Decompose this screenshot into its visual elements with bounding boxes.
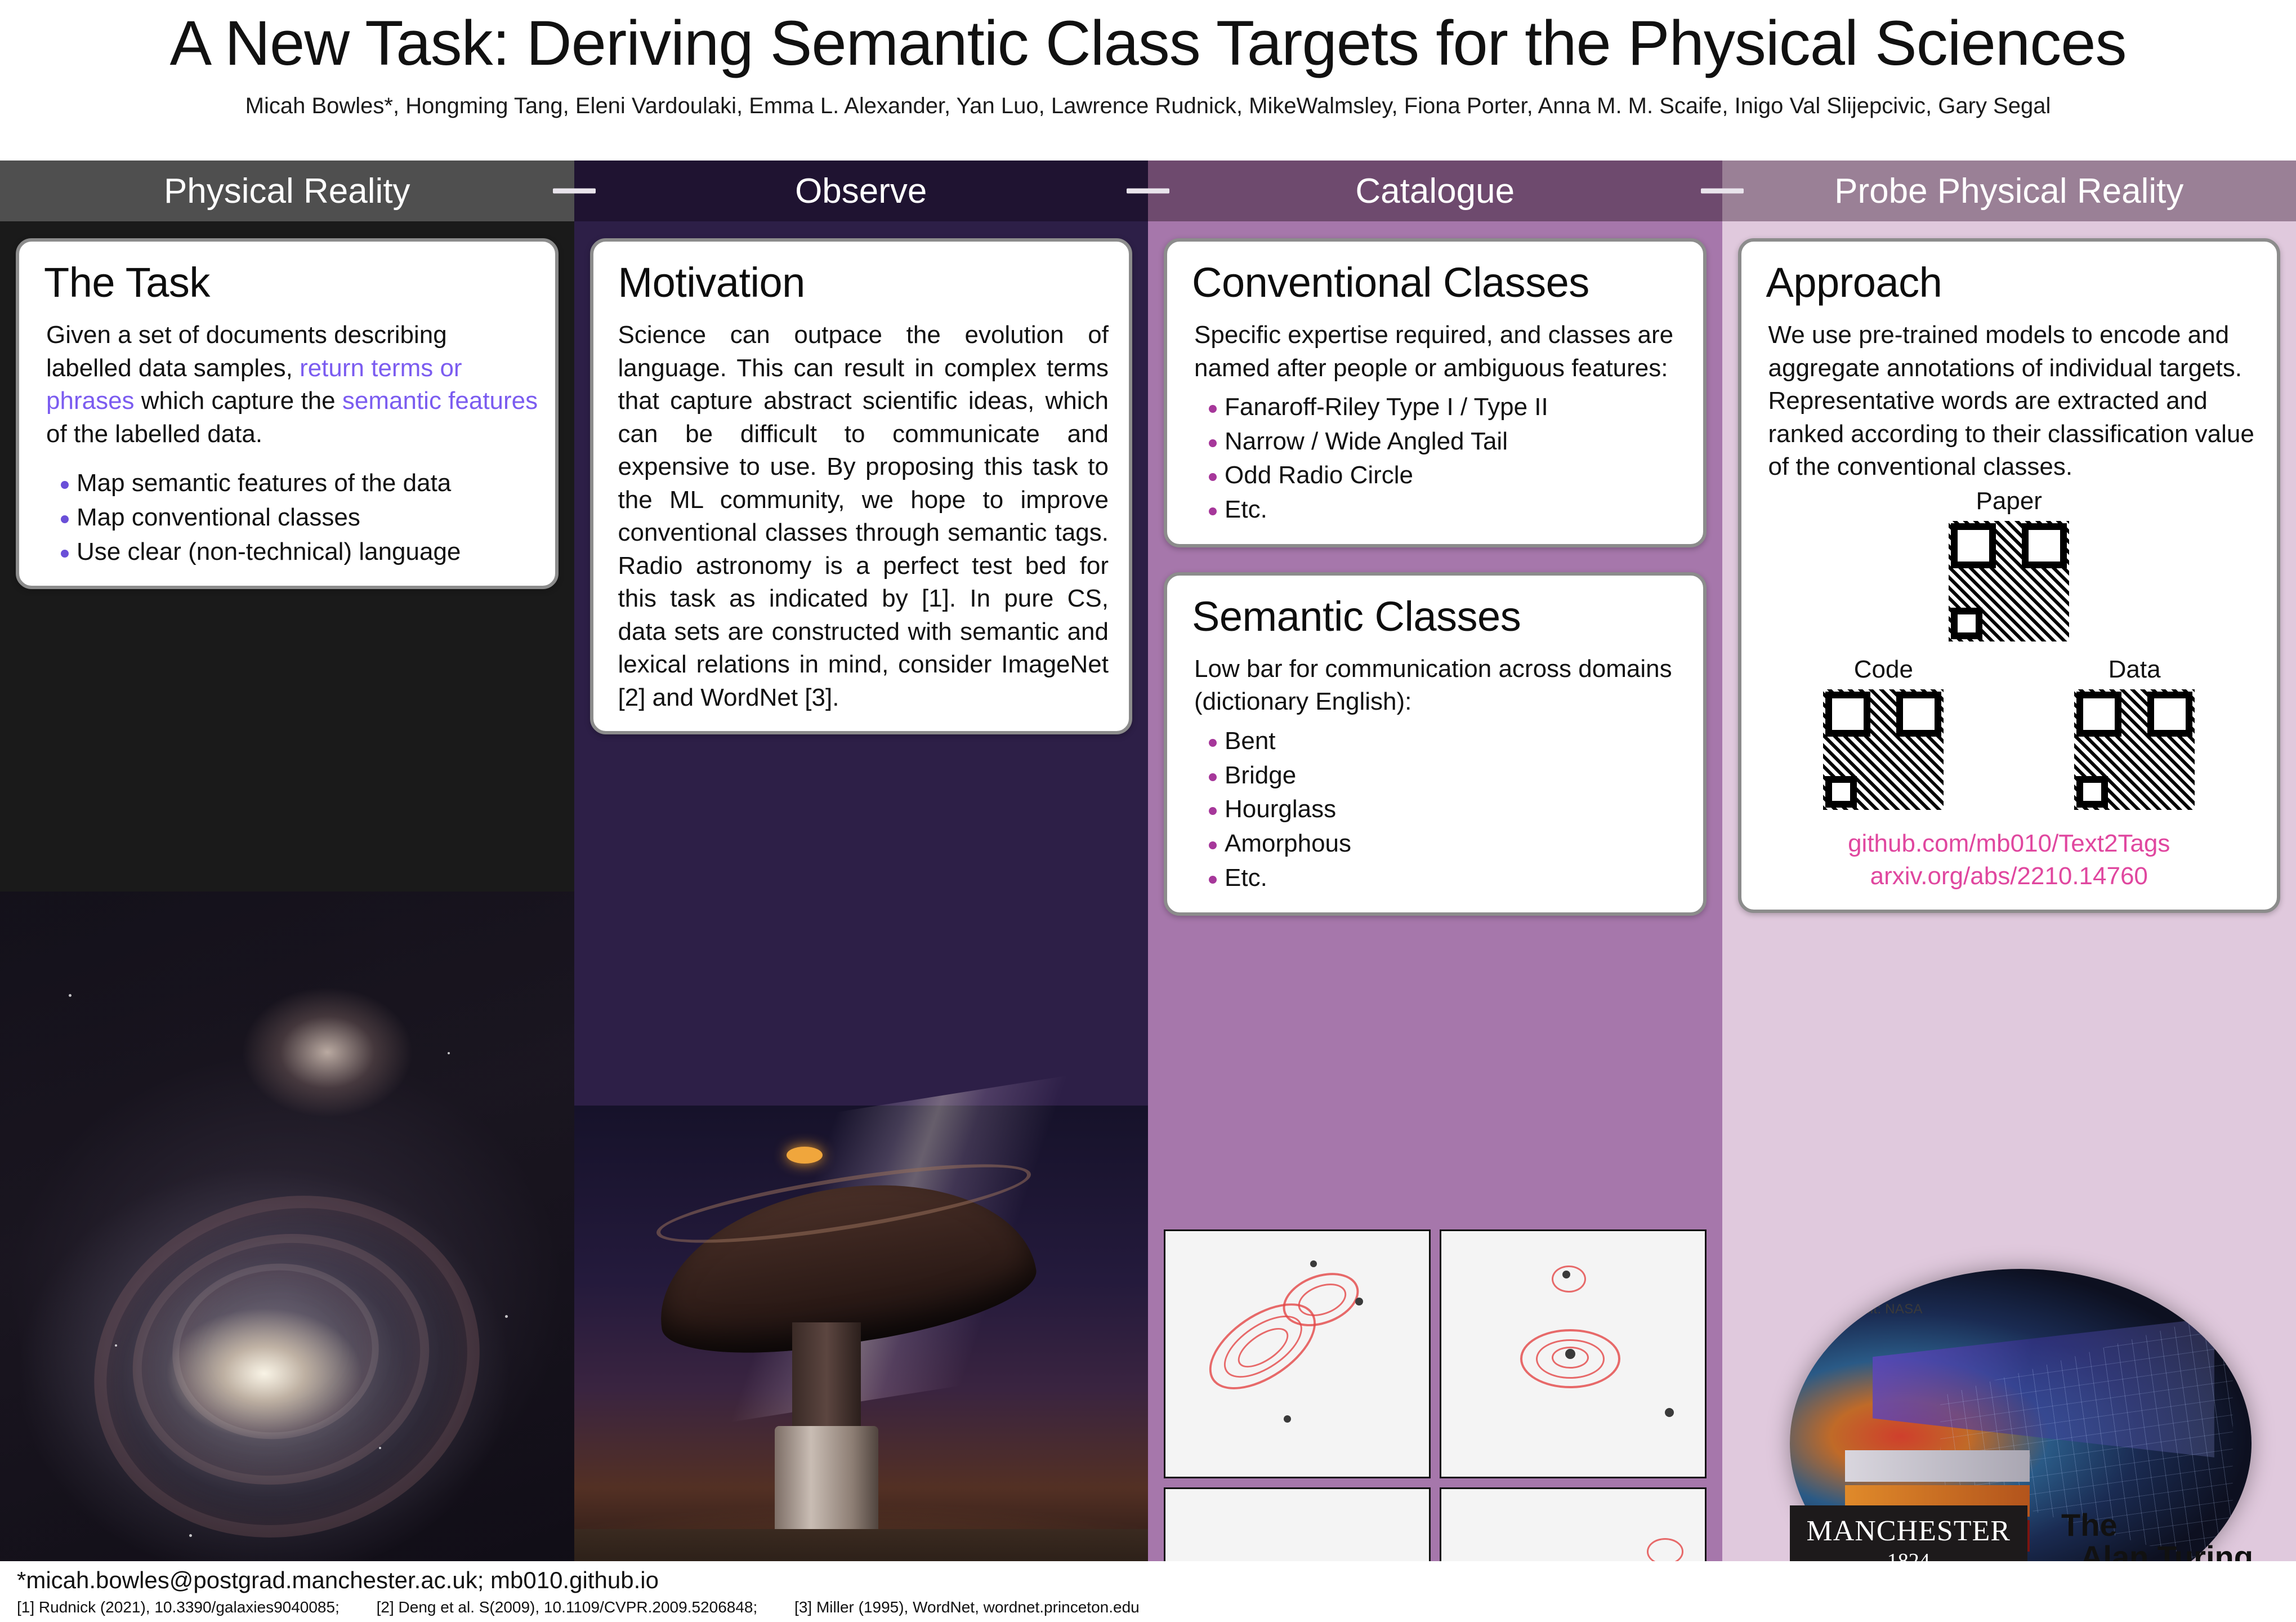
link-github-repo[interactable]: github.com/mb010/Text2Tags [1758,827,2261,860]
banner-cell-physical-reality: Physical Reality [0,161,574,221]
column-probe-physical-reality: Approach We use pre-trained models to en… [1722,221,2296,1622]
qr-row: Code Data [1758,656,2261,813]
manchester-wordmark: MANCHESTER [1807,1514,2011,1548]
qr-data-label: Data [2074,656,2195,684]
page-title: A New Task: Deriving Semantic Class Targ… [0,10,2296,77]
list-item: Bent [1208,724,1686,759]
qr-section: Paper Code Data [1758,487,2261,813]
star-dot [505,1315,508,1318]
column-catalogue: Conventional Classes Specific expertise … [1148,221,1722,1622]
motivation-body: Science can outpace the evolution of lan… [618,319,1109,714]
card-heading: Approach [1766,259,2261,306]
list-item: Fanaroff-Riley Type I / Type II [1208,390,1686,425]
qr-code-code[interactable] [1823,689,1944,810]
card-conventional-classes: Conventional Classes Specific expertise … [1164,238,1707,547]
reference-3: [3] Miller (1995), WordNet, wordnet.prin… [794,1598,1140,1616]
source-dot [1665,1408,1674,1417]
reference-2: [2] Deng et al. S(2009), 10.1109/CVPR.20… [377,1598,758,1616]
column-physical-reality: The Task Given a set of documents descri… [0,221,574,1622]
card-semantic-classes: Semantic Classes Low bar for communicati… [1164,572,1707,916]
task-body-highlight-2: semantic features [342,387,538,415]
task-body: Given a set of documents describing labe… [46,319,538,451]
qr-paper-label: Paper [1758,487,2261,515]
card-approach: Approach We use pre-trained models to en… [1738,238,2281,913]
arrow-dash-icon [1127,189,1169,194]
list-item: Hourglass [1208,792,1686,827]
qr-code-block-code: Code [1823,656,1944,813]
semantic-bullet-list: Bent Bridge Hourglass Amorphous Etc. [1208,724,1686,895]
links-section: github.com/mb010/Text2Tags arxiv.org/abs… [1758,827,2261,893]
list-item: Odd Radio Circle [1208,458,1686,493]
card-heading: Semantic Classes [1192,592,1686,640]
poster-header: A New Task: Deriving Semantic Class Targ… [0,0,2296,161]
banner-cell-observe: Observe [574,161,1149,221]
list-item: Map semantic features of the data [60,466,538,501]
approach-body: We use pre-trained models to encode and … [1768,319,2261,484]
star-dot [189,1534,192,1537]
star-dot [448,1052,450,1054]
poster-columns: The Task Given a set of documents descri… [0,221,2296,1622]
column-observe: Motivation Science can outpace the evolu… [574,221,1149,1622]
card-heading: Conventional Classes [1192,259,1686,306]
task-body-post: of the labelled data. [46,420,262,448]
banner-label: Observe [795,171,927,211]
conventional-bullet-list: Fanaroff-Riley Type I / Type II Narrow /… [1208,390,1686,527]
source-dot [1562,1271,1570,1278]
semantic-body: Low bar for communication across domains… [1194,653,1686,719]
list-item: Etc. [1208,861,1686,895]
qr-code-block-data: Data [2074,656,2195,813]
card-heading: Motivation [618,259,1113,306]
contour-ring [1552,1265,1586,1293]
author-list: Micah Bowles*, Hongming Tang, Eleni Vard… [0,93,2296,119]
card-motivation: Motivation Science can outpace the evolu… [590,238,1133,734]
reference-1: [1] Rudnick (2021), 10.3390/galaxies9040… [17,1598,340,1616]
conventional-body: Specific expertise required, and classes… [1194,319,1686,385]
turing-line-1: The [2061,1509,2253,1541]
radio-panel-top-left [1164,1229,1431,1478]
star-dot [69,994,72,997]
qr-code-paper[interactable] [1949,521,2069,641]
qr-code-data[interactable] [2074,689,2195,810]
list-item: Amorphous [1208,827,1686,861]
poster-footer: *micah.bowles@postgrad.manchester.ac.uk;… [0,1561,2296,1622]
pipeline-banner: Physical Reality Observe Catalogue Probe… [0,161,2296,221]
arrow-dash-icon [553,189,596,194]
card-the-task: The Task Given a set of documents descri… [16,238,559,589]
image-credit: Credit: NASA [1841,1302,1923,1317]
card-heading: The Task [44,259,538,306]
spiral-galaxy-image [0,892,574,1622]
list-item: Use clear (non-technical) language [60,535,538,569]
list-item: Narrow / Wide Angled Tail [1208,425,1686,459]
banner-cell-probe-physical-reality: Probe Physical Reality [1722,161,2296,221]
star-dot [379,1447,381,1449]
banner-label: Physical Reality [164,171,410,211]
arrow-dash-icon [1701,189,1744,194]
source-dot [1565,1349,1575,1359]
star-dot [115,1344,117,1347]
radio-telescope-image: Credit: CSIRO [574,1106,1149,1622]
contact-line: *micah.bowles@postgrad.manchester.ac.uk;… [17,1567,659,1594]
qr-code-label: Code [1823,656,1944,684]
source-dot [1355,1298,1363,1305]
source-dot [1284,1415,1291,1423]
list-item: Map conventional classes [60,501,538,535]
task-body-mid: which capture the [135,387,342,415]
banner-cell-catalogue: Catalogue [1148,161,1722,221]
banner-label: Catalogue [1355,171,1515,211]
list-item: Bridge [1208,759,1686,793]
list-item: Etc. [1208,493,1686,527]
link-arxiv-paper[interactable]: arxiv.org/abs/2210.14760 [1758,860,2261,893]
source-dot [1310,1260,1317,1267]
banner-label: Probe Physical Reality [1834,171,2183,211]
references-line: [1] Rudnick (2021), 10.3390/galaxies9040… [17,1598,1172,1616]
radio-panel-top-right [1440,1229,1707,1478]
timeline-stripe [1845,1450,2030,1482]
task-bullet-list: Map semantic features of the data Map co… [60,466,538,569]
